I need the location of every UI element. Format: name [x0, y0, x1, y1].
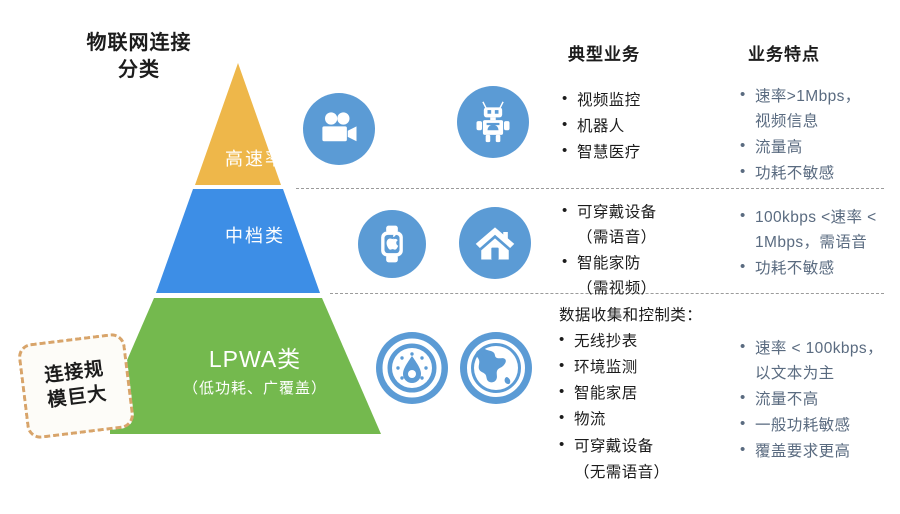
business-features-list-mid-rate: 100kbps <速率 < 1Mbps，需语音 功耗不敏感	[738, 205, 900, 282]
list-item-text: 一般功耗敏感	[755, 413, 900, 438]
list-item-text: 可穿戴设备 （需语音）	[577, 200, 750, 250]
bullet-list: 视频监控 机器人 智慧医疗	[560, 88, 750, 165]
list-item-text: 功耗不敏感	[755, 161, 900, 186]
list-item: 覆盖要求更高	[738, 439, 900, 464]
list-item: 可穿戴设备	[557, 434, 747, 459]
bullet-list: 速率>1Mbps， 视频信息 流量高 功耗不敏感	[738, 84, 900, 186]
list-item-text: 流量不高	[755, 387, 900, 412]
list-item-text: 功耗不敏感	[755, 256, 900, 281]
list-item: 智能家居	[557, 381, 747, 406]
list-item: 智能家防 （需视频）	[560, 251, 750, 301]
list-item: 可穿戴设备 （需语音）	[560, 200, 750, 250]
icon-home	[459, 207, 531, 279]
list-item-text: 机器人	[577, 114, 750, 139]
typical-business-list-lpwa: 数据收集和控制类： 无线抄表 环境监测 智能家居 物流 可穿戴设备 （无需语音）	[557, 303, 747, 486]
list-item-text: 智慧医疗	[577, 140, 750, 165]
list-item: 功耗不敏感	[738, 161, 900, 186]
list-item: 视频监控	[560, 88, 750, 113]
list-item: 机器人	[560, 114, 750, 139]
list-item: 物流	[557, 407, 747, 432]
list-item-text: 环境监测	[574, 355, 747, 380]
icon-robot	[457, 86, 529, 158]
smartwatch-icon	[372, 224, 412, 264]
infographic-canvas: 物联网连接 分类 典型业务 业务特点 高速率 中档类 LPWA类 （低功耗、广覆…	[0, 0, 900, 514]
bullet-list: 无线抄表 环境监测 智能家居 物流 可穿戴设备 （无需语音）	[557, 329, 747, 485]
bullet-list: 可穿戴设备 （需语音） 智能家防 （需视频）	[560, 200, 750, 301]
list-item-text: 可穿戴设备	[574, 434, 747, 459]
callout-scale-badge: 连接规 模巨大	[17, 332, 136, 440]
typical-business-list-high-rate: 视频监控 机器人 智慧医疗	[560, 88, 750, 166]
pyramid-tier-high-rate	[195, 63, 281, 185]
callout-text: 连接规 模巨大	[43, 358, 109, 414]
bullet-list: 速率 < 100kbps， 以文本为主 流量不高 一般功耗敏感 覆盖要求更高	[738, 336, 900, 465]
bullet-list: 100kbps <速率 < 1Mbps，需语音 功耗不敏感	[738, 205, 900, 281]
pyramid-tier-lpwa	[110, 298, 381, 434]
icon-video-camera	[303, 93, 375, 165]
globe-icon	[458, 330, 534, 406]
list-item-text: 速率 < 100kbps， 以文本为主	[755, 336, 900, 386]
icon-smartwatch	[358, 210, 426, 278]
list-item-text: 智能家居	[574, 381, 747, 406]
list-item-text: 速率>1Mbps， 视频信息	[755, 84, 900, 134]
icon-globe	[458, 330, 534, 406]
list-item-text: 智能家防 （需视频）	[577, 251, 750, 301]
list-item: 流量不高	[738, 387, 900, 412]
column-header-typical-business: 典型业务	[568, 40, 640, 65]
list-item-text: 100kbps <速率 < 1Mbps，需语音	[755, 205, 900, 255]
row-divider-1	[296, 188, 884, 189]
list-item: 一般功耗敏感	[738, 413, 900, 438]
list-item-text: 视频监控	[577, 88, 750, 113]
video-camera-icon	[318, 108, 360, 150]
business-features-list-high-rate: 速率>1Mbps， 视频信息 流量高 功耗不敏感	[738, 84, 900, 187]
list-item: 速率 < 100kbps， 以文本为主	[738, 336, 900, 386]
pyramid-tier-mid-rate	[156, 189, 320, 293]
robot-icon	[471, 100, 515, 144]
list-item-text: 覆盖要求更高	[755, 439, 900, 464]
list-item: 智慧医疗	[560, 140, 750, 165]
list-item-text: 物流	[574, 407, 747, 432]
list-item: 功耗不敏感	[738, 256, 900, 281]
column-header-business-features: 业务特点	[748, 40, 820, 65]
icon-water-meter	[374, 330, 450, 406]
typical-business-list-mid-rate: 可穿戴设备 （需语音） 智能家防 （需视频）	[560, 200, 750, 302]
list-item: 速率>1Mbps， 视频信息	[738, 84, 900, 134]
home-icon	[473, 221, 517, 265]
list-item: 流量高	[738, 135, 900, 160]
list-lead-text: 数据收集和控制类：	[557, 303, 747, 328]
list-item-text: 流量高	[755, 135, 900, 160]
list-item-continuation: （无需语音）	[557, 460, 747, 485]
list-item-text: 无线抄表	[574, 329, 747, 354]
business-features-list-lpwa: 速率 < 100kbps， 以文本为主 流量不高 一般功耗敏感 覆盖要求更高	[738, 336, 900, 466]
list-item: 无线抄表	[557, 329, 747, 354]
list-item: 100kbps <速率 < 1Mbps，需语音	[738, 205, 900, 255]
water-meter-icon	[374, 330, 450, 406]
list-item-text: （无需语音）	[574, 460, 747, 485]
list-item: 环境监测	[557, 355, 747, 380]
